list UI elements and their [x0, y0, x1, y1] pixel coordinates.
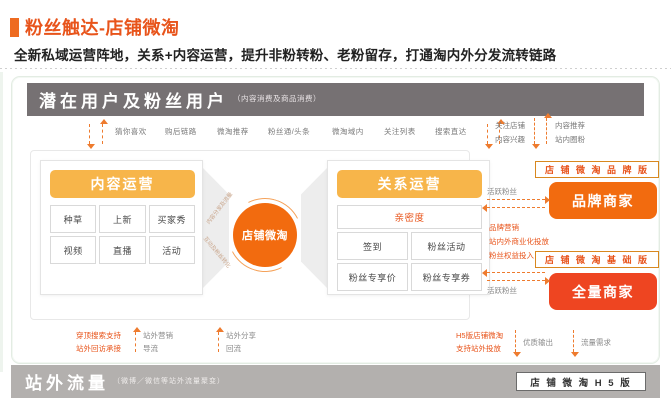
right-channel-strip: 关注店铺 内容兴趣 内容推荐 站内圈粉 [495, 116, 670, 150]
content-cell-4[interactable]: 直播 [99, 236, 145, 264]
bottom-left-orange-0: 穿顶搜索支持 [76, 330, 121, 341]
channel-label-5: 关注列表 [384, 126, 416, 137]
page-title: 粉丝触达-店铺微淘 [25, 14, 180, 40]
bottom-left-orange-1: 站外回访承接 [76, 343, 121, 354]
bottom-right-grey-1: 流量需求 [581, 337, 611, 348]
channel-arrow-in-right [487, 124, 488, 144]
brand-version-badge: 店 铺 微 淘 品 牌 版 [535, 161, 659, 178]
bottom-left-grey-1b: 回流 [226, 343, 241, 354]
relation-operation-group: 关系运营 亲密度 签到 粉丝活动 粉丝专享价 粉丝专享券 [327, 160, 490, 295]
channel-arrow-in-left [89, 124, 90, 144]
bottom-right-orange-1: 支持站外投放 [456, 343, 501, 354]
invest-line-2: 粉丝权益投入 [489, 250, 534, 261]
external-traffic-band: 站外流量 （微博／微信等站外流量聚变） 店 铺 微 淘 H 5 版 [11, 365, 660, 398]
content-cell-2[interactable]: 买家秀 [149, 205, 195, 233]
bottom-band-title: 站外流量 [25, 369, 109, 394]
relation-operation-heading: 关系运营 [337, 170, 482, 198]
brand-merchant-box[interactable]: 品牌商家 [549, 182, 657, 219]
fans-arrow-bottom-right [487, 280, 545, 281]
title-accent-bar [10, 18, 19, 37]
channel-label-3: 粉丝通/头条 [268, 126, 310, 137]
relation-cell-1[interactable]: 粉丝活动 [411, 232, 482, 260]
title-row: 粉丝触达-店铺微淘 [10, 14, 180, 40]
header-divider [0, 68, 671, 69]
bottom-right-orange-0: H5版店铺微淘 [456, 330, 503, 341]
relation-operation-cells: 亲密度 签到 粉丝活动 粉丝专享价 粉丝专享券 [337, 205, 482, 291]
right-arrow-in [534, 118, 535, 144]
channel-label-2: 微淘推荐 [217, 126, 249, 137]
invest-line-1: 站内外商业化投放 [489, 236, 549, 247]
all-merchant-box[interactable]: 全量商家 [549, 273, 657, 310]
bottom-flow-strip: 穿顶搜索支持 站外回访承接 站外营销 导流 站外分享 回流 H5版店铺微淘 支持… [0, 322, 671, 362]
channel-label-1: 购后链路 [165, 126, 197, 137]
relation-cell-intimacy[interactable]: 亲密度 [337, 205, 482, 229]
top-band-subtitle: （内容消费及商品消费） [233, 93, 321, 106]
relation-cell-0[interactable]: 签到 [337, 232, 408, 260]
channel-label-4: 微淘域内 [332, 126, 364, 137]
content-cell-3[interactable]: 视频 [50, 236, 96, 264]
right-channel-in-bottom: 内容兴趣 [495, 134, 525, 145]
top-band-title: 潜在用户及粉丝用户 [39, 87, 228, 112]
basic-version-badge: 店 铺 微 淘 基 础 版 [535, 251, 659, 268]
relation-cell-2[interactable]: 粉丝专享价 [337, 263, 408, 291]
right-arrow-out [546, 118, 547, 144]
channel-label-0: 猜你喜欢 [115, 126, 147, 137]
bottom-band-subtitle: （微博／微信等站外流量聚变） [113, 376, 225, 388]
top-audience-band: 潜在用户及粉丝用户 （内容消费及商品消费） [27, 83, 644, 116]
relation-cell-3[interactable]: 粉丝专享券 [411, 263, 482, 291]
content-cell-5[interactable]: 活动 [149, 236, 195, 264]
page-subtitle: 全新私域运营阵地，关系+内容运营，提升非粉转粉、老粉留存，打通淘内外分发流转链路 [14, 44, 556, 64]
channel-label-6: 搜索直达 [435, 126, 467, 137]
channel-arrow-out-left [102, 124, 103, 144]
content-operation-group: 内容运营 种草 上新 买家秀 视频 直播 活动 [40, 160, 203, 295]
right-channel-out-bottom: 站内圈粉 [555, 134, 585, 145]
content-operation-heading: 内容运营 [50, 170, 195, 198]
active-fans-label-bottom: 活跃粉丝 [487, 285, 517, 296]
active-fans-label-top: 活跃粉丝 [487, 186, 517, 197]
hub-label: 店铺微淘 [233, 203, 297, 267]
fans-arrow-top-right [487, 199, 545, 200]
page-header: 粉丝触达-店铺微淘 全新私域运营阵地，关系+内容运营，提升非粉转粉、老粉留存，打… [0, 0, 671, 72]
hub: 店铺微淘 内容分发及流量 互动及粉丝转化 [228, 198, 302, 272]
right-channel-out-top: 内容推荐 [555, 120, 585, 131]
fans-arrow-top-left [487, 207, 545, 208]
fans-arrow-bottom-left [487, 272, 545, 273]
content-cell-1[interactable]: 上新 [99, 205, 145, 233]
bottom-right-grey-0: 优质输出 [523, 337, 553, 348]
invest-line-0: 品牌营销 [489, 222, 519, 233]
bottom-left-grey-0b: 导流 [143, 343, 158, 354]
bottom-arrow-1 [218, 332, 219, 352]
bottom-left-grey-0a: 站外营销 [143, 330, 173, 341]
bottom-arrow-0 [135, 332, 136, 352]
content-cell-0[interactable]: 种草 [50, 205, 96, 233]
h5-version-badge: 店 铺 微 淘 H 5 版 [516, 372, 646, 391]
right-channel-in-top: 关注店铺 [495, 120, 525, 131]
content-operation-cells: 种草 上新 买家秀 视频 直播 活动 [50, 205, 195, 264]
bottom-left-grey-1a: 站外分享 [226, 330, 256, 341]
bottom-arrow-2 [515, 330, 516, 352]
bottom-arrow-3 [573, 330, 574, 352]
channel-strip: 猜你喜欢 购后链路 微淘推荐 粉丝通/头条 微淘域内 关注列表 搜索直达 [27, 122, 447, 146]
